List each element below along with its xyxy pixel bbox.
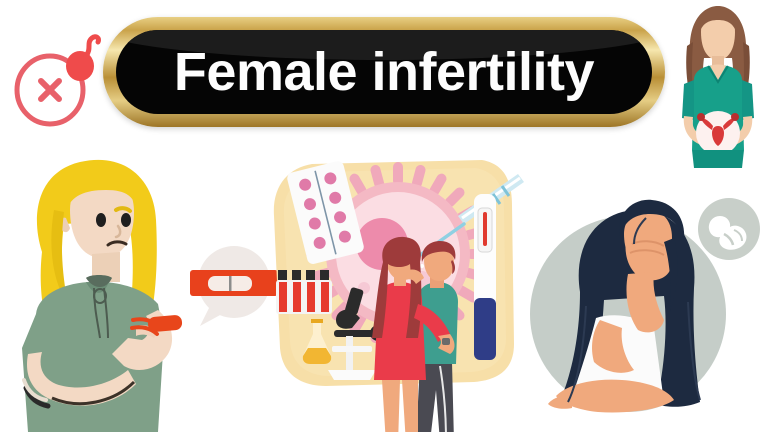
egg-with-cross-icon xyxy=(12,30,104,130)
fetus-icon xyxy=(694,194,764,264)
title-banner-inner: Female infertility xyxy=(116,30,652,114)
sad-woman-with-pregnancy-test xyxy=(8,148,198,432)
page-title: Female infertility xyxy=(174,45,594,99)
ivf-fertility-illustration xyxy=(268,158,530,432)
nurse-holding-uterus xyxy=(672,2,764,174)
poster-canvas: Female infertility xyxy=(0,0,768,432)
title-banner: Female infertility xyxy=(103,17,665,127)
